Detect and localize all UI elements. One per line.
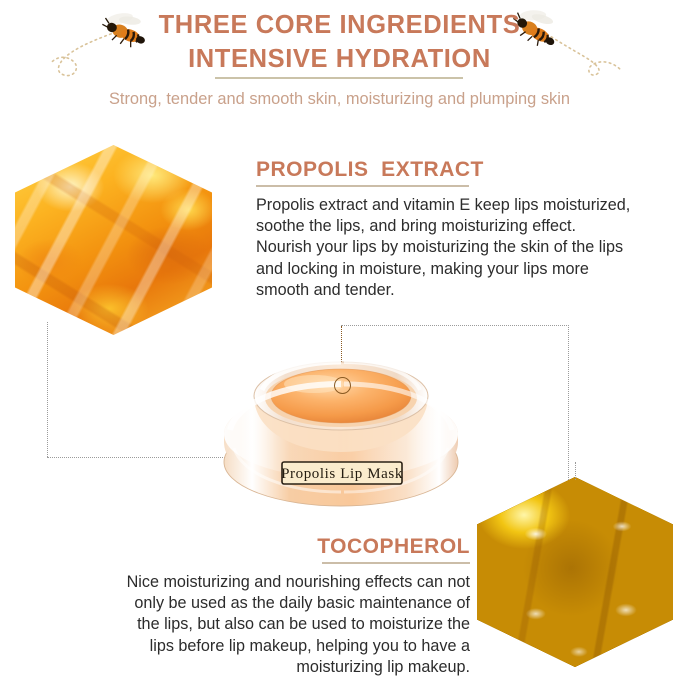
title-line-1: THREE CORE INGREDIENTS [0,8,679,42]
propolis-heading-underline [256,185,469,187]
title-line-2: INTENSIVE HYDRATION [0,42,679,76]
propolis-honeycomb-hexagon-image [15,145,212,335]
propolis-body-line: and locking in moisture, making your lip… [256,259,656,280]
connector-top-horizontal [341,325,569,326]
tocopherol-heading: TOCOPHEROL [30,534,470,560]
tocopherol-body-line: only be used as the daily basic maintena… [30,593,470,614]
tocopherol-body-line: the lips, but also can be used to moistu… [30,614,470,635]
vitamin-e-capsules-hexagon-image [477,477,673,667]
honeycomb-texture [15,145,212,335]
propolis-body-line: Propolis extract and vitamin E keep lips… [256,195,656,216]
subtitle: Strong, tender and smooth skin, moisturi… [0,88,679,110]
tocopherol-body-line: moisturizing lip makeup. [30,657,470,678]
section-propolis-extract: PROPOLIS EXTRACT Propolis extract and vi… [256,157,656,302]
propolis-body-line: Nourish your lips by moisturizing the sk… [256,237,656,258]
page-title: THREE CORE INGREDIENTS INTENSIVE HYDRATI… [0,8,679,76]
infographic-page: THREE CORE INGREDIENTS INTENSIVE HYDRATI… [0,0,679,679]
connector-hexagon-vertical [47,322,48,457]
propolis-body: Propolis extract and vitamin E keep lips… [256,195,656,302]
callout-marker-circle [334,377,351,394]
propolis-heading: PROPOLIS EXTRACT [256,157,656,183]
product-label-text: Propolis Lip Mask [281,466,403,482]
propolis-lip-mask-jar-image: Propolis Lip Mask [214,344,468,510]
connector-right-vertical [568,325,569,480]
header: THREE CORE INGREDIENTS INTENSIVE HYDRATI… [0,0,679,122]
propolis-body-line: soothe the lips, and bring moisturizing … [256,216,656,237]
propolis-body-line: smooth and tender. [256,280,656,301]
capsule-texture [477,477,673,667]
section-tocopherol: TOCOPHEROL Nice moisturizing and nourish… [30,534,470,679]
connector-oil-hexagon-vertical [575,462,576,480]
title-divider [215,77,463,79]
tocopherol-heading-underline [322,562,470,564]
tocopherol-body: Nice moisturizing and nourishing effects… [30,572,470,679]
tocopherol-body-line: lips before lip makeup, helping you to h… [30,636,470,657]
tocopherol-body-line: Nice moisturizing and nourishing effects… [30,572,470,593]
